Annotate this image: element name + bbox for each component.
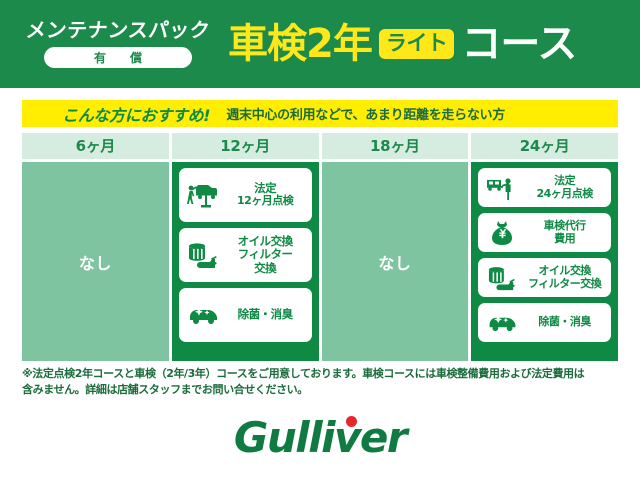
oil-filter-change-icon: [183, 238, 223, 272]
plan-column-header-6: 6ヶ月: [22, 133, 169, 159]
footnote: ※法定点検2年コースと車検（2年/3年）コースをご用意しております。車検コースに…: [22, 366, 622, 398]
gulliver-logo: Gulliver: [234, 417, 406, 459]
gulliver-logo-dot-icon: [346, 416, 357, 427]
footnote-line-2: 含みません。詳細は店舗スタッフまでお問い合せください。: [22, 382, 622, 398]
service-card[interactable]: オイル交換 フィルター 交換: [179, 228, 312, 282]
service-line-3: 交換: [223, 262, 308, 276]
pack-paid-pill: 有 償: [44, 47, 192, 68]
plan-column-6: 6ヶ月 なし: [22, 133, 169, 361]
plan-column-header-12: 12ヶ月: [172, 133, 319, 159]
car-sanitize-icon: [183, 298, 223, 332]
service-line-2: フィルター: [223, 248, 308, 262]
service-card[interactable]: 法定 24ヶ月点検: [478, 168, 611, 207]
service-line-1: オイル交換: [223, 235, 308, 249]
gulliver-logo-text: Gulliver: [234, 413, 406, 462]
service-card-text: 法定 24ヶ月点検: [522, 175, 607, 201]
service-line-2: フィルター交換: [522, 278, 607, 291]
plan-column-24: 24ヶ月: [471, 133, 618, 361]
maintenance-pack-poster: メンテナンスパック 有 償 車検2年 ライト コース こんな方におすすめ! 週末…: [0, 0, 640, 480]
plan-column-header-label: 6ヶ月: [76, 139, 116, 154]
service-line-1: 除菌・消臭: [223, 308, 308, 322]
service-card-text: 法定 12ヶ月点検: [223, 182, 308, 209]
car-inspection-person-icon: [482, 173, 522, 203]
service-line-1: 法定: [522, 175, 607, 188]
plan-column-body-18: なし: [322, 162, 469, 361]
pack-paid-label: 有 償: [88, 52, 148, 64]
plan-column-header-18: 18ヶ月: [322, 133, 469, 159]
plan-column-header-24: 24ヶ月: [471, 133, 618, 159]
plan-column-header-label: 18ヶ月: [370, 139, 420, 154]
service-line-1: 除菌・消臭: [522, 316, 607, 329]
plan-column-header-label: 24ヶ月: [520, 139, 570, 154]
car-lift-inspection-icon: [183, 178, 223, 212]
service-card-text: 車検代行 費用: [522, 220, 607, 246]
money-bag-yen-icon: [482, 218, 522, 248]
car-sanitize-icon: [482, 308, 522, 338]
service-line-1: 車検代行: [522, 220, 607, 233]
service-line-1: オイル交換: [522, 265, 607, 278]
plan-column-body-24: 法定 24ヶ月点検 車検代行 費用: [471, 162, 618, 361]
recommendation-headline: こんな方におすすめ!: [62, 102, 210, 126]
brand-logo-area: Gulliver: [0, 412, 640, 464]
pack-title: メンテナンスパック: [25, 20, 211, 40]
header-course-group: 車検2年 ライト コース: [228, 24, 640, 64]
course-suffix-label: コース: [461, 24, 576, 64]
header-pack-group: メンテナンスパック 有 償: [0, 20, 228, 68]
course-main-label: 車検2年: [228, 24, 372, 64]
service-line-2: 12ヶ月点検: [223, 195, 308, 208]
service-card[interactable]: 法定 12ヶ月点検: [179, 168, 312, 222]
recommendation-bar: こんな方におすすめ! 週末中心の利用などで、あまり距離を走らない方: [22, 100, 618, 127]
service-line-2: 費用: [522, 233, 607, 246]
plan-none-label: なし: [79, 250, 112, 274]
service-card[interactable]: オイル交換 フィルター交換: [478, 258, 611, 297]
service-card-text: 除菌・消臭: [223, 308, 308, 322]
plan-column-header-label: 12ヶ月: [220, 139, 270, 154]
service-card-text: オイル交換 フィルター 交換: [223, 235, 308, 276]
plan-column-body-12: 法定 12ヶ月点検: [172, 162, 319, 361]
plan-table: 6ヶ月 なし 12ヶ月: [22, 133, 618, 361]
plan-none-label: なし: [378, 250, 411, 274]
plan-column-body-6: なし: [22, 162, 169, 361]
recommendation-description: 週末中心の利用などで、あまり距離を走らない方: [226, 104, 505, 123]
service-card-text: オイル交換 フィルター交換: [522, 265, 607, 291]
plan-column-12: 12ヶ月: [172, 133, 319, 361]
oil-filter-change-icon: [482, 263, 522, 293]
footnote-line-1: ※法定点検2年コースと車検（2年/3年）コースをご用意しております。車検コースに…: [22, 366, 622, 382]
service-card[interactable]: 除菌・消臭: [179, 288, 312, 342]
service-card[interactable]: 除菌・消臭: [478, 303, 611, 342]
service-card[interactable]: 車検代行 費用: [478, 213, 611, 252]
service-line-2: 24ヶ月点検: [522, 188, 607, 201]
plan-column-18: 18ヶ月 なし: [322, 133, 469, 361]
course-light-badge: ライト: [379, 29, 455, 59]
header-banner: メンテナンスパック 有 償 車検2年 ライト コース: [0, 0, 640, 88]
service-card-text: 除菌・消臭: [522, 316, 607, 329]
